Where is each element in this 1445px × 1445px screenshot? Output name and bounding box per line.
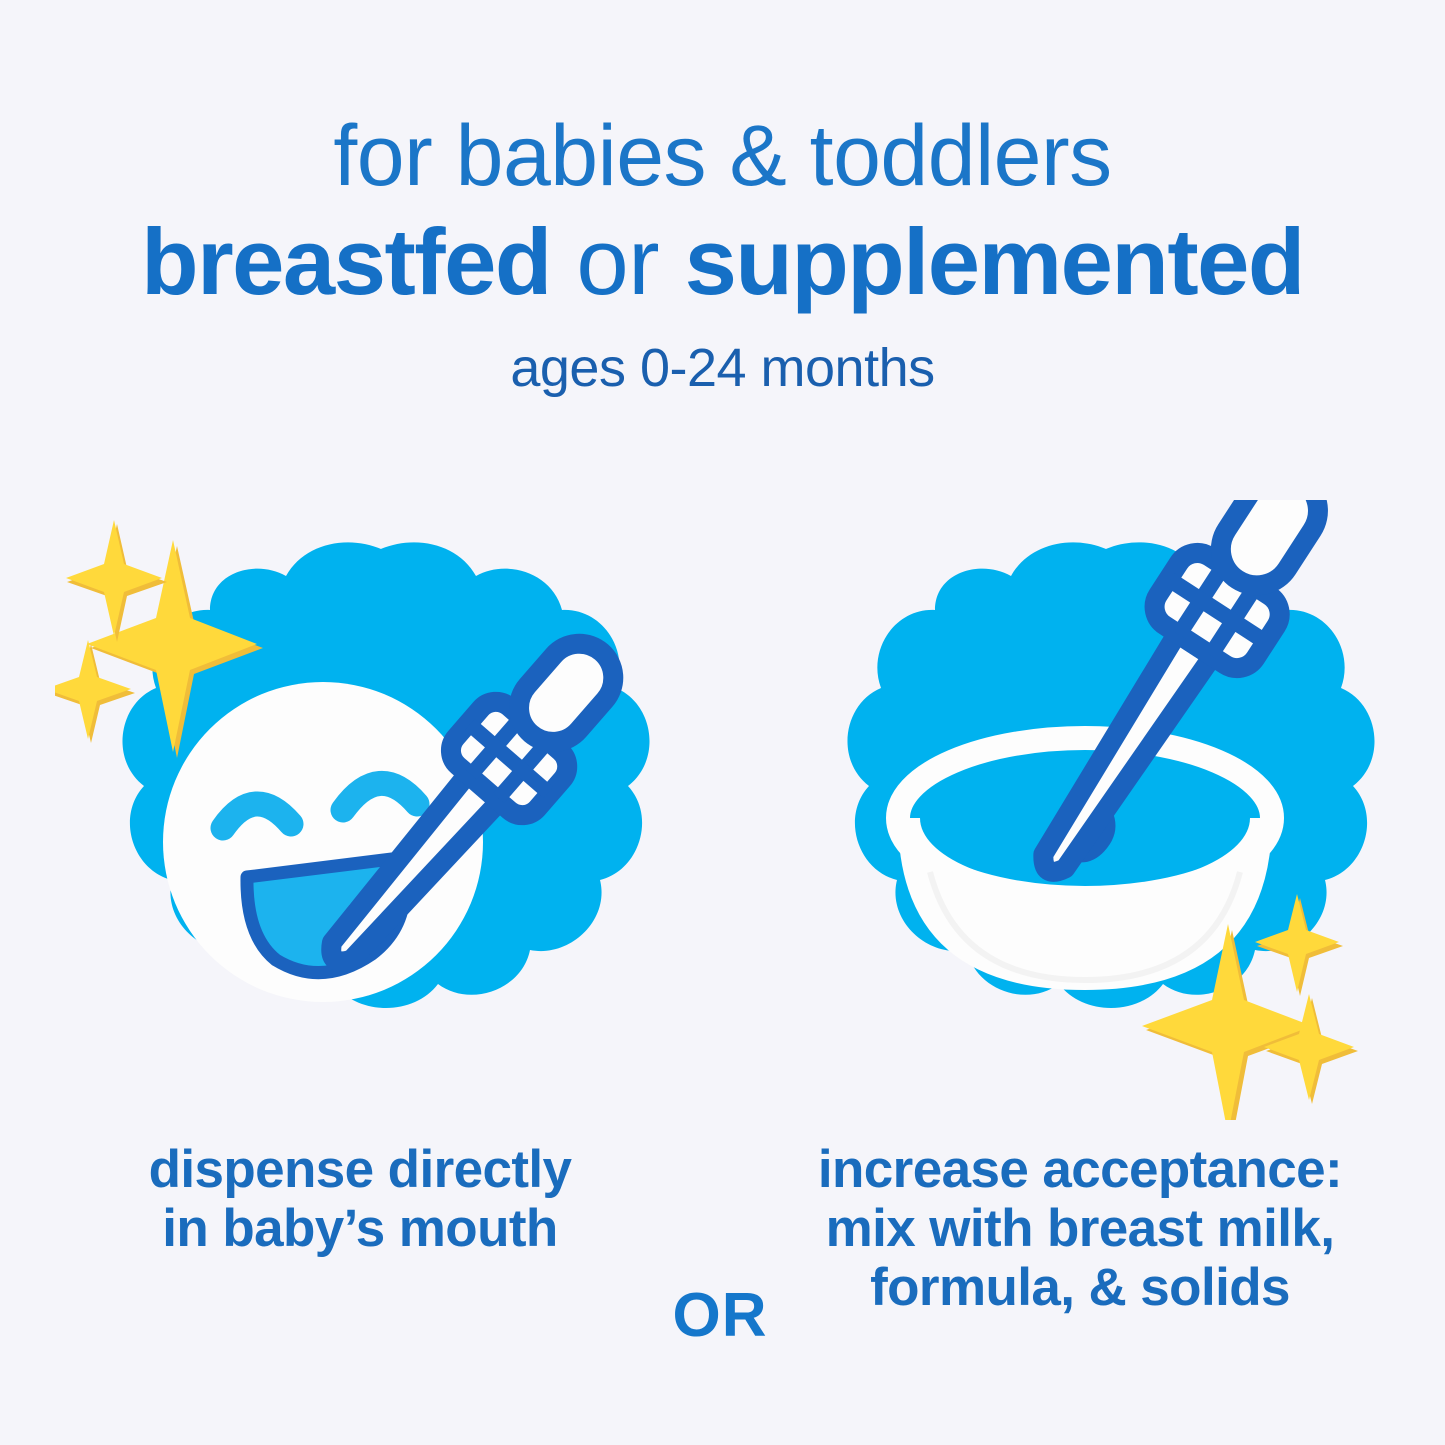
sparkle-small: [1264, 994, 1358, 1104]
caption-line: dispense directly: [85, 1140, 635, 1199]
caption-line: in baby’s mouth: [85, 1199, 635, 1258]
caption-row: dispense directly in baby’s mouth increa…: [0, 1140, 1445, 1340]
heading-block: for babies & toddlers breastfed or suppl…: [0, 108, 1445, 400]
caption-dispense-directly: dispense directly in baby’s mouth: [85, 1140, 635, 1258]
caption-line: mix with breast milk,: [780, 1199, 1380, 1258]
caption-mix-into-food: increase acceptance: mix with breast mil…: [780, 1140, 1380, 1317]
heading-line-2-conjunction: or: [551, 209, 685, 314]
illustration-row: OR: [0, 500, 1445, 1120]
heading-line-2-bold-a: breastfed: [141, 209, 551, 314]
heading-line-2-bold-b: supplemented: [685, 209, 1304, 314]
heading-line-1: for babies & toddlers: [0, 108, 1445, 204]
caption-line: increase acceptance:: [780, 1140, 1380, 1199]
option-dispense-directly-illustration: [55, 500, 665, 1120]
product-benefit-infographic: for babies & toddlers breastfed or suppl…: [0, 0, 1445, 1445]
heading-age-range: ages 0-24 months: [0, 336, 1445, 400]
option-mix-into-food-illustration: [780, 500, 1390, 1120]
heading-line-2: breastfed or supplemented: [0, 210, 1445, 314]
caption-line: formula, & solids: [780, 1258, 1380, 1317]
